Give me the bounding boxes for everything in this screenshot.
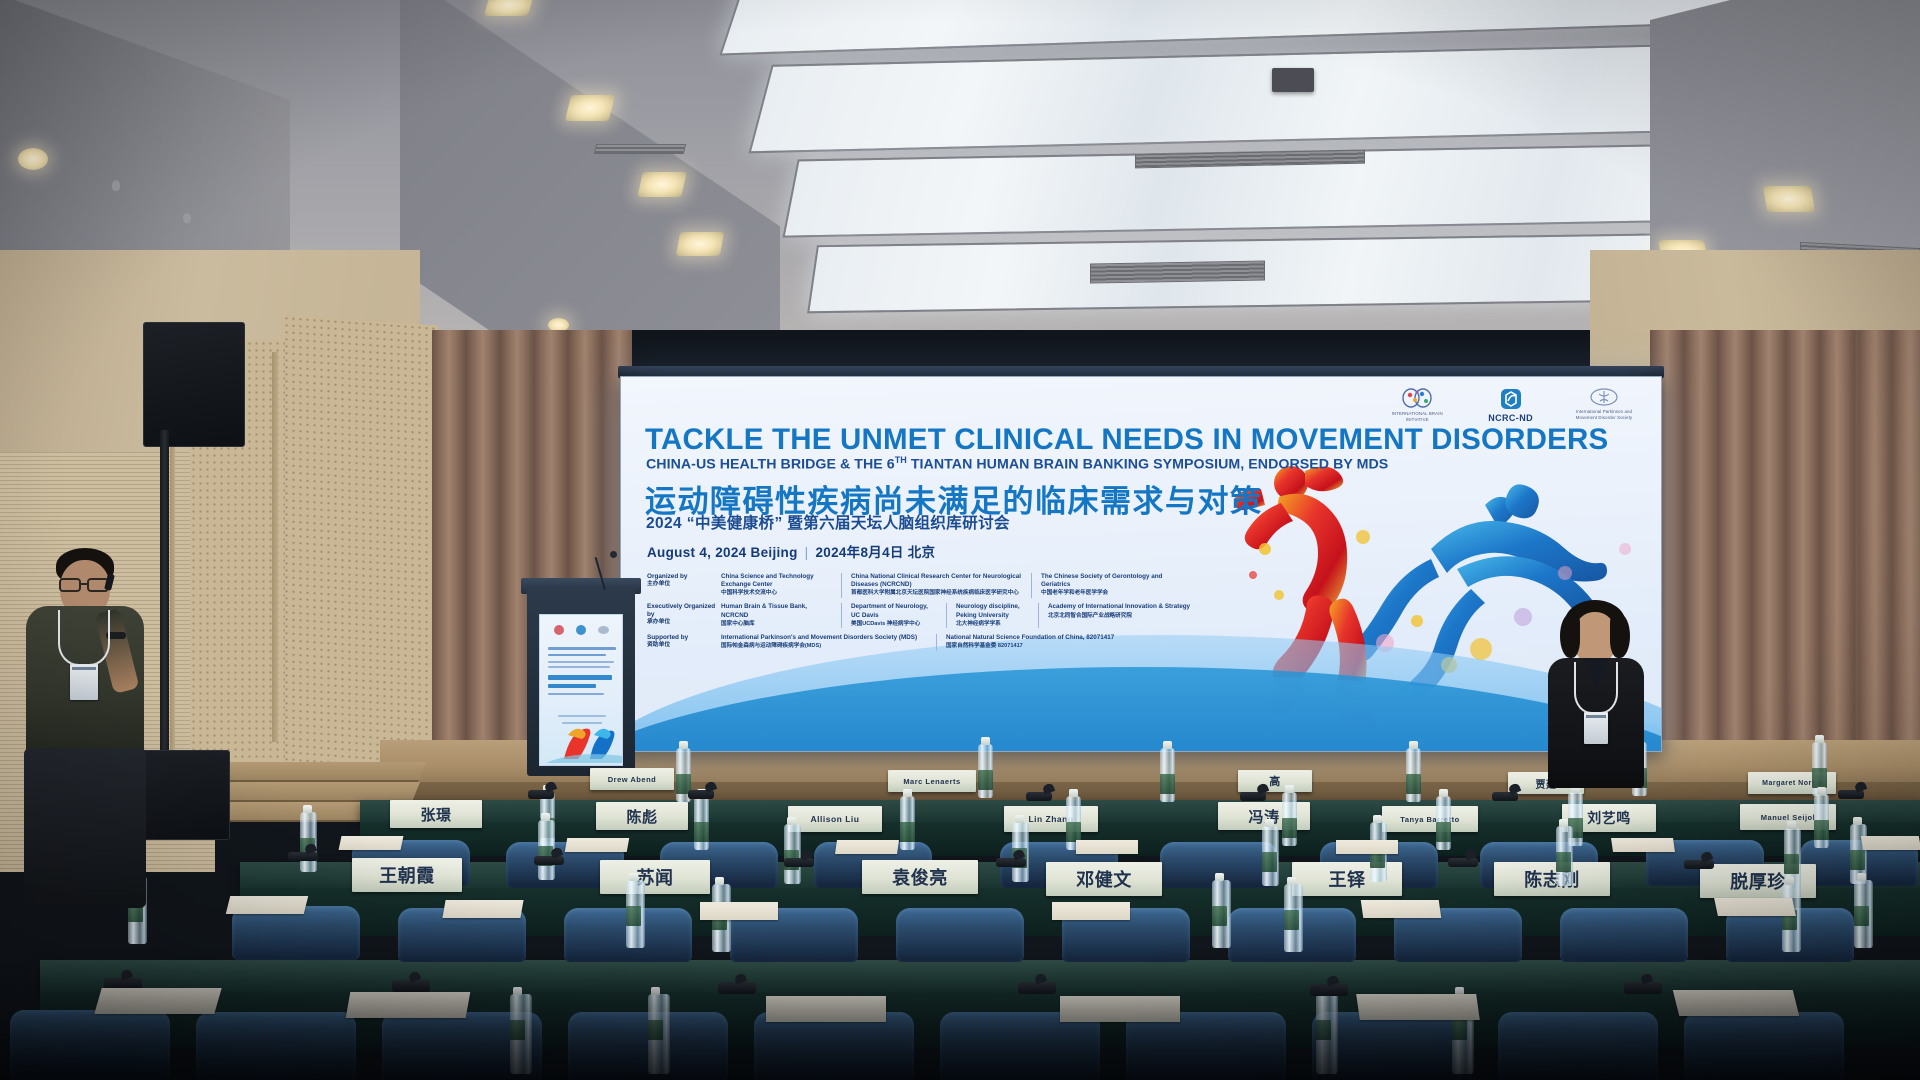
notepad [94, 988, 221, 1014]
ceiling-projector [1272, 68, 1314, 92]
placard-name: 刘艺鸣 [1587, 808, 1631, 828]
credit-org-cn: 国际帕金森病与运动障碍疾病学会(MDS) [721, 643, 927, 651]
conference-microphone[interactable] [288, 852, 318, 861]
conference-microphone[interactable] [1492, 792, 1518, 801]
placard-name: 王朝霞 [379, 862, 435, 888]
placard-name: 陈彪 [626, 806, 657, 827]
name-placard: Drew Abend [590, 768, 674, 790]
chair[interactable] [232, 906, 360, 960]
notepad [1673, 990, 1799, 1016]
placard-name: 高 [1269, 773, 1281, 789]
poster-date-line: August 4, 2024 Beijing|2024年8月4日 北京 [647, 541, 935, 561]
placard-name: 脱厚珍 [1730, 868, 1786, 894]
name-placard: 邓健文 [1046, 862, 1162, 896]
legs [24, 748, 146, 908]
credit-org-en: China National Clinical Research Center … [851, 573, 1022, 589]
stage-step [218, 762, 426, 782]
credit-org-en: National Natural Science Foundation of C… [946, 634, 1187, 642]
placard-name: 王铎 [1329, 866, 1366, 892]
water-bottle[interactable] [1212, 880, 1231, 948]
ncrc-nd-label: NCRC-ND [1488, 413, 1533, 423]
name-placard: Marc Lenaerts [888, 770, 976, 792]
notepad [339, 836, 404, 850]
water-bottle[interactable] [1284, 884, 1303, 952]
conference-microphone[interactable] [996, 858, 1026, 867]
credit-label-en: Supported by [647, 634, 721, 642]
placard-name: 冯涛 [1248, 806, 1279, 827]
credit-org-en: Department of Neurology, UC Davis [851, 603, 937, 619]
conference-microphone[interactable] [718, 982, 756, 994]
water-bottle[interactable] [1436, 796, 1451, 850]
water-bottle[interactable] [626, 880, 645, 948]
credit-row: Executively Organized by 承办单位 Human Brai… [647, 603, 1347, 628]
placard-name: 袁俊亮 [892, 864, 948, 890]
poster-date-chinese: 2024年8月4日 北京 [815, 545, 935, 560]
conference-microphone[interactable] [1026, 792, 1052, 801]
person-man-on-phone [20, 548, 170, 908]
conference-microphone[interactable] [1018, 982, 1056, 994]
water-bottle[interactable] [784, 824, 801, 884]
notepad [1861, 836, 1920, 850]
credit-org-en: The Chinese Society of Gerontology and G… [1041, 573, 1192, 589]
name-placard: 袁俊亮 [862, 860, 978, 894]
brain-logo-icon [1402, 387, 1432, 409]
mds-logo: International Parkinson and Movement Dis… [1573, 387, 1635, 420]
credit-org-cn: 中国老年学和老年医学学会 [1041, 590, 1192, 598]
name-placard: Allison Liu [788, 806, 882, 832]
credit-orgs: International Parkinson's and Movement D… [721, 634, 1347, 651]
brain-logo-caption: INTERNATIONAL BRAIN INITIATIVE [1386, 411, 1448, 422]
person-woman-standing [1540, 600, 1660, 800]
credit-org: China Science and Technology Exchange Ce… [721, 573, 841, 598]
name-placard: 高 [1238, 770, 1312, 792]
credit-label: Organized by 主办单位 [647, 573, 721, 589]
wall-trim [272, 352, 278, 742]
credit-label-cn: 资助单位 [647, 642, 721, 650]
poster-subtitle-ordinal: TH [895, 455, 907, 465]
credit-org: Academy of International Innovation & St… [1038, 603, 1203, 628]
water-bottle[interactable] [300, 812, 317, 872]
conference-microphone[interactable] [1448, 858, 1478, 867]
name-placard: 王朝霞 [352, 858, 462, 892]
notepad [1060, 996, 1180, 1022]
conference-microphone[interactable] [1240, 792, 1266, 801]
mds-logo-caption: International Parkinson and Movement Dis… [1573, 409, 1635, 420]
lanyard-strap [58, 610, 110, 666]
credit-org-en: Human Brain & Tissue Bank, NCRCND [721, 603, 832, 619]
credit-label-cn: 主办单位 [647, 581, 721, 589]
water-bottle[interactable] [1282, 792, 1297, 846]
poster-main-title: TACKLE THE UNMET CLINICAL NEEDS IN MOVEM… [645, 425, 1620, 455]
credit-org: International Parkinson's and Movement D… [721, 634, 936, 651]
placard-name: Allison Liu [811, 814, 860, 824]
podium-runner-art [546, 715, 623, 763]
water-bottle[interactable] [1262, 826, 1279, 886]
smoke-detector [112, 180, 120, 191]
chair[interactable] [754, 1012, 914, 1080]
conference-microphone[interactable] [392, 980, 430, 992]
conference-microphone[interactable] [784, 858, 814, 867]
notepad [1361, 900, 1442, 918]
notepad [226, 896, 308, 914]
stage-curtain-far-right [1858, 330, 1920, 800]
credit-org-en: Academy of International Innovation & St… [1048, 603, 1194, 611]
poster-logo-row: INTERNATIONAL BRAIN INITIATIVE NCRC-ND I… [1386, 387, 1635, 423]
conference-microphone[interactable] [1838, 790, 1864, 799]
lanyard-badge [1584, 712, 1608, 744]
name-placard: 陈彪 [596, 802, 688, 830]
water-bottle[interactable] [1316, 994, 1338, 1074]
perforated-wall-panel [283, 315, 438, 781]
ceiling-downlight [565, 95, 615, 121]
credit-label-en: Organized by [647, 573, 721, 581]
chair[interactable] [1498, 1012, 1658, 1080]
credit-org-cn: 北大神经病学学系 [956, 621, 1029, 629]
chair[interactable] [1560, 908, 1688, 962]
poster-date-separator: | [805, 545, 809, 560]
stage-step [202, 782, 420, 802]
poster-chinese-subtitle: 2024 “中美健康桥” 暨第六届天坛人脑组织库研讨会 [646, 511, 1010, 533]
credit-org: Department of Neurology, UC Davis 美国UCDa… [841, 603, 946, 628]
podium-microphone-head [610, 551, 617, 558]
hair-side-right [1610, 614, 1630, 658]
conference-microphone[interactable] [1684, 860, 1714, 869]
credit-label-cn: 承办单位 [647, 619, 721, 627]
credit-org-en: International Parkinson's and Movement D… [721, 634, 927, 642]
water-bottle[interactable] [648, 994, 670, 1074]
credit-org-cn: 北京北同智合国际产业战略研究院 [1048, 613, 1194, 621]
credit-label-en: Executively Organized by [647, 603, 721, 619]
mds-logo-icon [1589, 387, 1619, 407]
conference-hall-scene: INTERNATIONAL BRAIN INITIATIVE NCRC-ND I… [0, 0, 1920, 1080]
water-bottle[interactable] [1406, 748, 1421, 802]
credit-org: Neurology discipline, Peking University … [946, 603, 1038, 628]
water-bottle[interactable] [900, 796, 915, 850]
chair[interactable] [940, 1012, 1100, 1080]
name-placard: 张璟 [390, 800, 482, 828]
chair[interactable] [896, 908, 1024, 962]
lanyard-badge [70, 664, 98, 700]
water-bottle[interactable] [1814, 794, 1829, 848]
credit-org-cn: 国家自然科学基金委 82071417 [946, 643, 1187, 651]
notepad [1356, 994, 1480, 1020]
conference-microphone[interactable] [688, 790, 714, 799]
chair[interactable] [196, 1012, 356, 1080]
notepad [1714, 898, 1796, 916]
podium-poster-panel [539, 614, 623, 766]
ncrc-hexagon-icon [1499, 387, 1523, 411]
credit-org-cn: 美国UCDavis 神经病学中心 [851, 621, 937, 629]
credit-org-cn: 国家中心脑库 [721, 621, 832, 629]
hair-side-left [1560, 614, 1580, 658]
poster-credits-block: Organized by 主办单位 China Science and Tech… [647, 573, 1347, 656]
name-placard: 陈志刚 [1494, 862, 1610, 896]
conference-microphone[interactable] [1310, 984, 1348, 996]
credit-label: Supported by 资助单位 [647, 634, 721, 650]
ceiling-downlight [548, 318, 569, 330]
ceiling-downlight [637, 172, 686, 197]
poster-subtitle-pre: CHINA-US HEALTH BRIDGE & THE 6 [646, 457, 895, 473]
poster-subtitle: CHINA-US HEALTH BRIDGE & THE 6TH TIANTAN… [646, 455, 1631, 473]
water-bottle[interactable] [978, 744, 993, 798]
chair[interactable] [1684, 1012, 1844, 1080]
notepad [442, 900, 523, 918]
water-bottle[interactable] [1160, 748, 1175, 802]
conference-microphone[interactable] [1624, 982, 1662, 994]
line-array-loudspeaker [143, 322, 245, 447]
credit-org-cn: 中国科学技术交流中心 [721, 590, 832, 598]
ceiling-downlight [484, 0, 534, 16]
notepad [1052, 902, 1130, 920]
name-placard: Tanya Barretto [1382, 806, 1478, 832]
led-display-screen: INTERNATIONAL BRAIN INITIATIVE NCRC-ND I… [620, 376, 1662, 752]
chair[interactable] [10, 1010, 170, 1080]
credit-org-en: China Science and Technology Exchange Ce… [721, 573, 832, 589]
credit-orgs: Human Brain & Tissue Bank, NCRCND 国家中心脑库… [721, 603, 1347, 628]
brain-logo: INTERNATIONAL BRAIN INITIATIVE [1386, 387, 1448, 422]
placard-name: Drew Abend [608, 775, 656, 784]
conference-microphone[interactable] [534, 856, 564, 865]
ceiling-downlight [18, 148, 48, 170]
chair[interactable] [1126, 1012, 1286, 1080]
ncrc-nd-logo: NCRC-ND [1488, 387, 1533, 423]
credit-row: Organized by 主办单位 China Science and Tech… [647, 573, 1347, 598]
smoke-detector [380, 90, 390, 104]
notepad [835, 840, 899, 854]
water-bottle[interactable] [694, 796, 709, 850]
lanyard-strap [1574, 662, 1618, 714]
notepad [1076, 840, 1138, 854]
poster-subtitle-post: TIANTAN HUMAN BRAIN BANKING SYMPOSIUM, E… [907, 457, 1388, 473]
notepad [1336, 840, 1398, 854]
smoke-detector [183, 213, 191, 223]
name-placard: 苏闻 [600, 860, 710, 894]
credit-label: Executively Organized by 承办单位 [647, 603, 721, 627]
water-bottle[interactable] [1854, 880, 1873, 948]
placard-name: Marc Lenaerts [903, 777, 960, 786]
ceiling-downlight [1763, 186, 1815, 212]
podium-lectern [527, 586, 635, 776]
credit-org: Human Brain & Tissue Bank, NCRCND 国家中心脑库 [721, 603, 841, 628]
credit-org: China National Clinical Research Center … [841, 573, 1031, 598]
credit-org-en: Neurology discipline, Peking University [956, 603, 1029, 619]
poster-date-english: August 4, 2024 Beijing [647, 545, 798, 560]
notepad [766, 996, 886, 1022]
credit-org-cn: 首都医科大学附属北京天坛医院国家神经系统疾病临床医学研究中心 [851, 590, 1022, 598]
ceiling-air-vent [594, 144, 686, 154]
notepad [346, 992, 471, 1018]
notepad [1611, 838, 1675, 852]
credit-orgs: China Science and Technology Exchange Ce… [721, 573, 1347, 598]
conference-microphone[interactable] [528, 790, 554, 799]
placard-name: 张璟 [420, 804, 451, 825]
ceiling-downlight [676, 232, 724, 256]
ceiling-air-vent [1090, 260, 1265, 283]
water-bottle[interactable] [1556, 826, 1573, 886]
credit-org: National Natural Science Foundation of C… [936, 634, 1196, 651]
notepad [700, 902, 778, 920]
water-bottle[interactable] [1782, 884, 1801, 952]
notepad [565, 838, 629, 852]
placard-name: 邓健文 [1076, 866, 1132, 892]
credit-org: The Chinese Society of Gerontology and G… [1031, 573, 1201, 598]
credit-row: Supported by 资助单位 International Parkinso… [647, 634, 1347, 651]
water-bottle[interactable] [510, 994, 532, 1074]
